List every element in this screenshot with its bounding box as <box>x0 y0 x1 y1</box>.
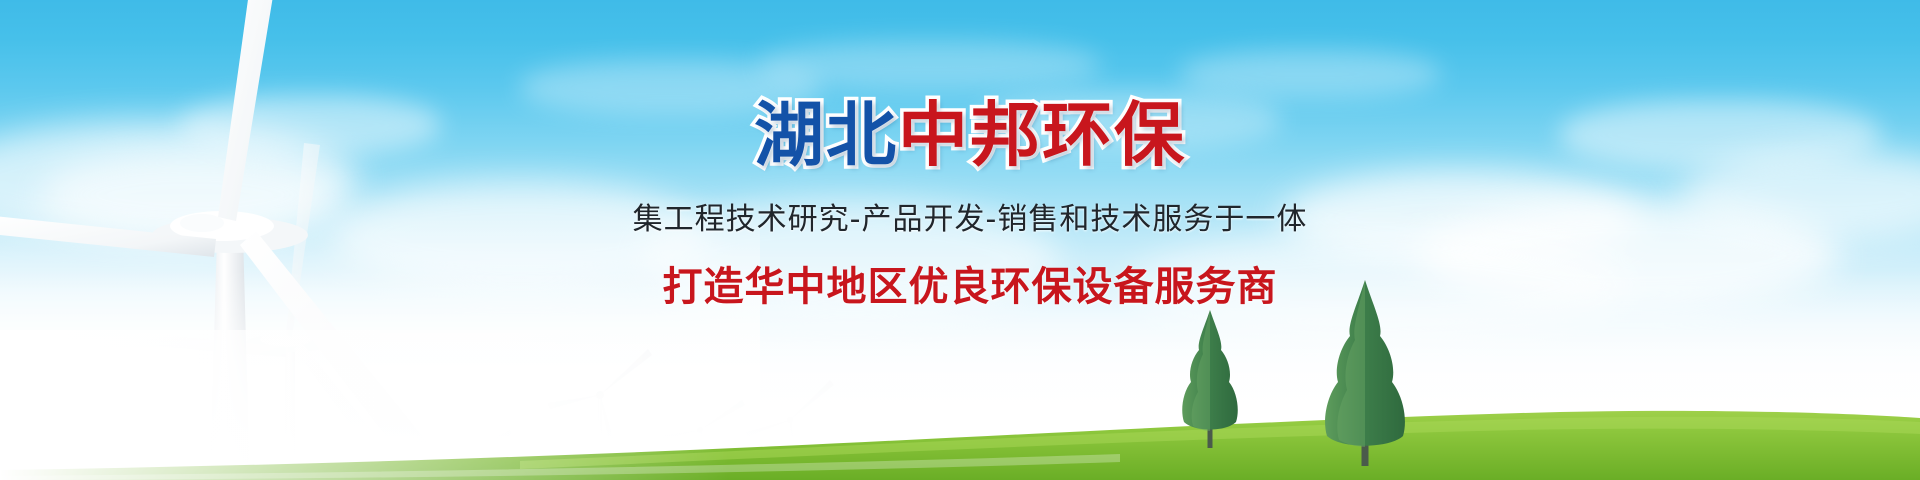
headline-region: 湖北 <box>754 94 898 176</box>
conifer-tree-small <box>1182 310 1238 448</box>
banner-subtitle: 集工程技术研究-产品开发-销售和技术服务于一体 <box>20 194 1920 238</box>
headline-brand: 中邦环保 <box>898 94 1186 176</box>
banner-tagline: 打造华中地区优良环保设备服务商 <box>20 254 1920 312</box>
hero-banner: 湖北中邦环保 集工程技术研究-产品开发-销售和技术服务于一体 打造华中地区优良环… <box>0 0 1920 480</box>
page-title: 湖北中邦环保 <box>20 100 1920 170</box>
banner-copy: 湖北中邦环保 集工程技术研究-产品开发-销售和技术服务于一体 打造华中地区优良环… <box>0 100 1920 312</box>
